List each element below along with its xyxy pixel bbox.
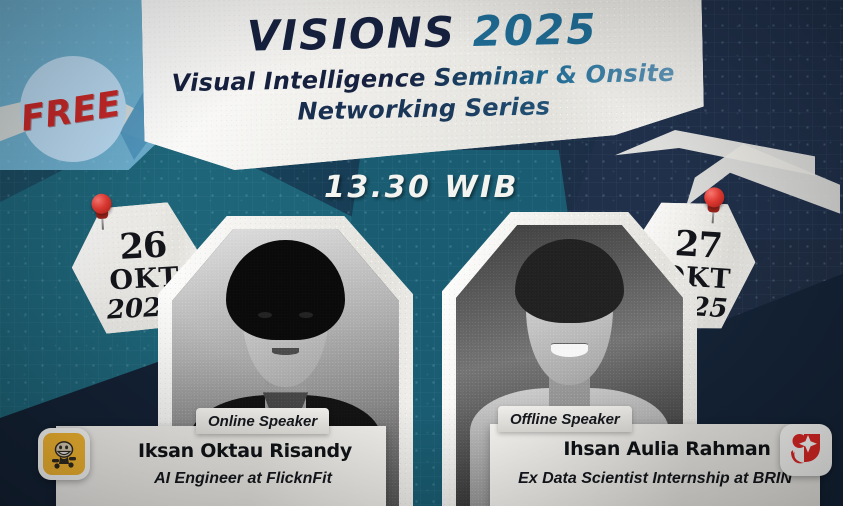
event-title-year: 2025 xyxy=(472,4,598,56)
speaker-card-online: Online Speaker Iksan Oktau Risandy AI En… xyxy=(56,426,386,506)
pushpin-icon xyxy=(88,193,116,230)
speaker-role-tag: Offline Speaker xyxy=(498,406,632,432)
brin-logo-icon xyxy=(780,424,832,476)
speaker-card-offline: Offline Speaker Ihsan Aulia Rahman Ex Da… xyxy=(490,424,820,506)
brin-logo-inner xyxy=(785,429,827,471)
speaker-role-tag: Online Speaker xyxy=(196,408,329,434)
speaker-name: Iksan Oktau Risandy xyxy=(80,440,410,462)
speaker-job-title: Ex Data Scientist Internship at BRIN xyxy=(490,470,820,488)
event-poster: FREE VISIONS 2025 Visual Intelligence Se… xyxy=(0,0,843,506)
flicknfit-logo-icon xyxy=(38,428,90,480)
speaker-card-background xyxy=(490,424,820,506)
event-title: VISIONS 2025 xyxy=(142,6,703,60)
flicknfit-logo-inner xyxy=(43,433,85,475)
event-title-main: VISIONS xyxy=(246,7,456,60)
free-badge: FREE xyxy=(8,50,134,176)
speaker-card-background xyxy=(56,426,386,506)
speaker-job-title: AI Engineer at FlicknFit xyxy=(78,470,408,488)
pushpin-head xyxy=(91,193,112,214)
